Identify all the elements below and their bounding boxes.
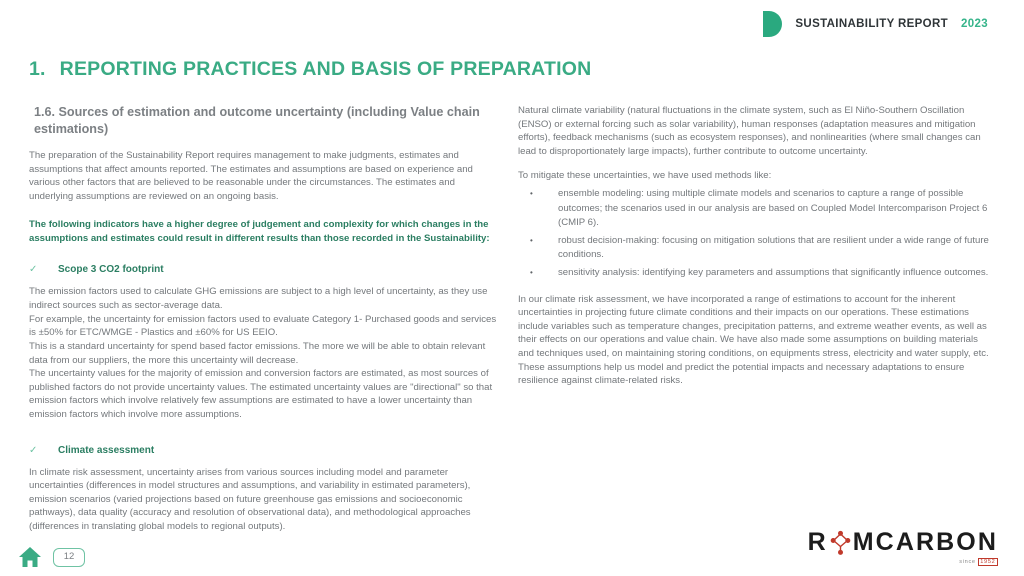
right-column: Natural climate variability (natural flu… <box>518 104 990 399</box>
check-item-scope-3: ✓ Scope 3 CO2 footprint <box>29 263 501 276</box>
scope3-paragraph-2: For example, the uncertainty for emissio… <box>29 313 501 340</box>
footer-navigation: 12 <box>18 546 85 568</box>
brand-year: 2023 <box>961 18 988 30</box>
tagline-year: 1952 <box>978 558 998 566</box>
list-item: • sensitivity analysis: identifying key … <box>518 266 990 281</box>
scope3-paragraph-1: The emission factors used to calculate G… <box>29 285 501 312</box>
list-item: • robust decision-making: focusing on mi… <box>518 234 990 263</box>
checkmark-icon: ✓ <box>29 444 46 457</box>
bullet-dot-icon: • <box>530 266 540 280</box>
logo-wordmark: R MCARBON <box>808 529 998 556</box>
home-icon[interactable] <box>18 546 42 568</box>
climate-risk-assessment-paragraph: In our climate risk assessment, we have … <box>518 293 990 388</box>
check-item-label: Climate assessment <box>58 444 154 457</box>
section-heading: 1.6. Sources of estimation and outcome u… <box>34 104 490 137</box>
chapter-number: 1. <box>29 58 46 81</box>
half-disc-logo-mark-icon <box>760 9 786 39</box>
content-columns: 1.6. Sources of estimation and outcome u… <box>0 104 1024 524</box>
mitigation-list-intro: To mitigate these uncertainties, we have… <box>518 169 990 183</box>
list-item-text: ensemble modeling: using multiple climat… <box>558 187 990 231</box>
scope3-paragraph-3: This is a standard uncertainty for spend… <box>29 340 501 367</box>
emphasis-paragraph: The following indicators have a higher d… <box>29 218 501 246</box>
brand-lockup: SUSTAINABILITY REPORT 2023 <box>760 9 988 39</box>
page-number: 12 <box>64 552 75 562</box>
brand-title: SUSTAINABILITY REPORT <box>795 18 948 30</box>
logo-prefix: R <box>808 530 828 555</box>
bullet-dot-icon: • <box>530 234 540 248</box>
chapter-title-text: REPORTING PRACTICES AND BASIS OF PREPARA… <box>60 58 592 81</box>
intro-paragraph: The preparation of the Sustainability Re… <box>29 149 501 203</box>
check-item-label: Scope 3 CO2 footprint <box>58 263 164 276</box>
natural-variability-paragraph: Natural climate variability (natural flu… <box>518 104 990 158</box>
logo-tagline: since 1952 <box>808 558 998 566</box>
list-item: • ensemble modeling: using multiple clim… <box>518 187 990 231</box>
molecule-icon <box>829 529 852 556</box>
bullet-dot-icon: • <box>530 187 540 201</box>
tagline-prefix: since <box>959 559 976 565</box>
list-item-text: robust decision-making: focusing on miti… <box>558 234 990 263</box>
left-column: 1.6. Sources of estimation and outcome u… <box>29 104 501 545</box>
checkmark-icon: ✓ <box>29 263 46 276</box>
logo-suffix: MCARBON <box>853 530 998 555</box>
page-footer: 12 R MCARBON since <box>0 520 1024 576</box>
mitigation-methods-list: • ensemble modeling: using multiple clim… <box>518 187 990 280</box>
check-item-climate-assessment: ✓ Climate assessment <box>29 444 501 457</box>
company-logo: R MCARBON since 1952 <box>808 529 998 566</box>
chapter-title: 1. REPORTING PRACTICES AND BASIS OF PREP… <box>29 58 591 81</box>
page-header: SUSTAINABILITY REPORT 2023 <box>0 0 1024 48</box>
scope3-paragraph-4: The uncertainty values for the majority … <box>29 367 501 421</box>
page-number-box: 12 <box>53 548 85 567</box>
list-item-text: sensitivity analysis: identifying key pa… <box>558 266 988 281</box>
